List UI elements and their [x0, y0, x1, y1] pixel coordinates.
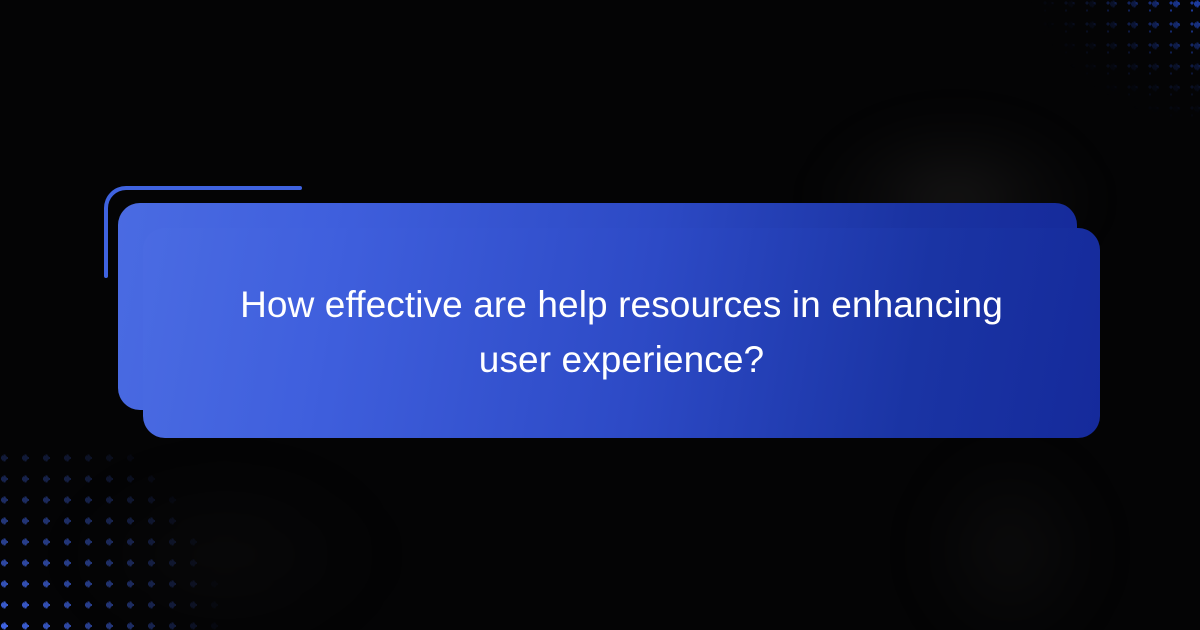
starfield-top-right	[1000, 0, 1200, 140]
star-dot-pattern-bottom-left	[0, 455, 235, 630]
star-dot-pattern-top-right	[1000, 0, 1200, 140]
ambient-glow-mid-right	[905, 430, 1115, 630]
question-card[interactable]: How effective are help resources in enha…	[143, 228, 1100, 438]
starfield-bottom-left	[0, 455, 235, 630]
ambient-glow-lower-left	[60, 455, 390, 630]
question-text: How effective are help resources in enha…	[222, 278, 1022, 388]
canvas-root: How effective are help resources in enha…	[0, 0, 1200, 630]
